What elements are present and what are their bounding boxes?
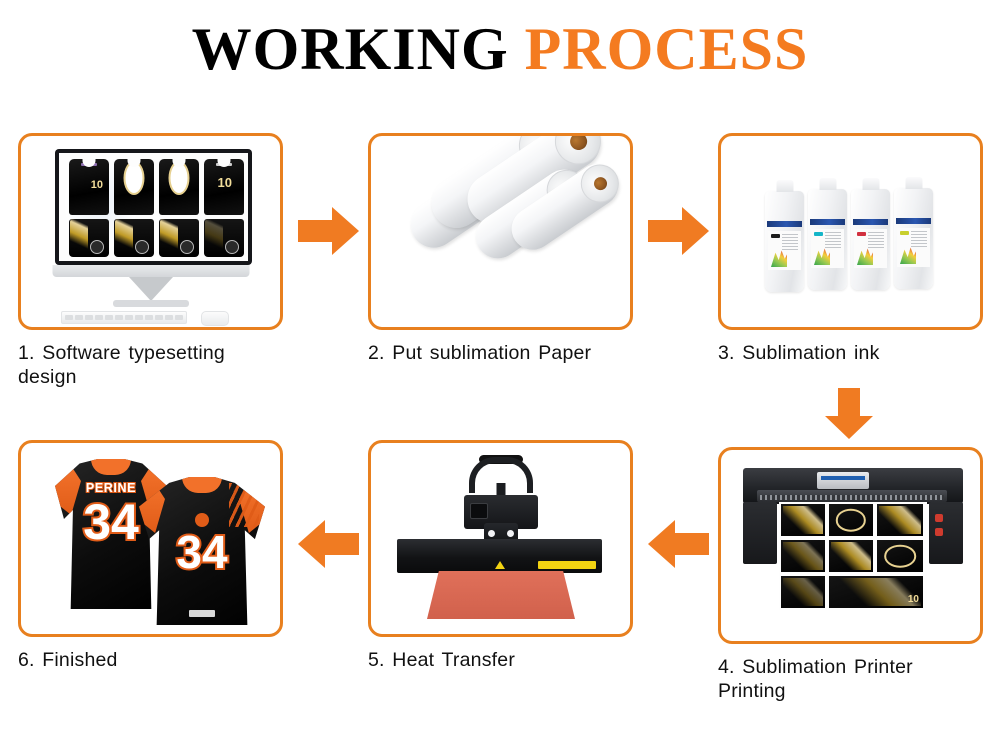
design-shorts-1 bbox=[69, 219, 109, 257]
monitor-base bbox=[113, 300, 189, 307]
page-title-part-process: PROCESS bbox=[525, 16, 809, 82]
printed-panel-6 bbox=[877, 540, 923, 572]
step-2-caption: 2. Put sublimation Paper bbox=[368, 341, 633, 365]
printed-panel-1 bbox=[781, 504, 825, 536]
design-jersey-3 bbox=[159, 159, 199, 215]
jersey-player-name: PERINE bbox=[86, 481, 136, 495]
paper-rolls-illustration bbox=[371, 136, 630, 327]
step-1-image-box: 10 10 bbox=[18, 133, 283, 330]
step-2-put-sublimation-paper[interactable]: 2. Put sublimation Paper bbox=[368, 133, 633, 365]
printer-illustration: 10 bbox=[721, 450, 980, 641]
step-1-caption: 1. Software typesetting design bbox=[18, 341, 283, 390]
arrow-step5-to-step6 bbox=[298, 518, 360, 570]
step-5-heat-transfer[interactable]: 5. Heat Transfer bbox=[368, 440, 633, 672]
step-3-sublimation-ink[interactable]: 3. Sublimation ink bbox=[718, 133, 983, 365]
mouse-icon bbox=[201, 311, 229, 326]
printer-control-panel bbox=[817, 472, 869, 489]
printer-leg-left bbox=[743, 502, 777, 564]
jersey-number-back: 34 bbox=[83, 497, 139, 547]
step-6-caption: 6. Finished bbox=[18, 648, 283, 672]
arrow-step1-to-step2 bbox=[298, 205, 360, 257]
step-6-finished[interactable]: PERINE 34 34 6. Finished bbox=[18, 440, 283, 672]
ink-bottles-illustration bbox=[721, 136, 980, 327]
jersey-front-view: 34 bbox=[139, 477, 265, 625]
printed-panel-jersey: 10 bbox=[829, 576, 923, 608]
step-3-caption: 3. Sublimation ink bbox=[718, 341, 983, 365]
page-title-part-working: WORKING bbox=[192, 16, 509, 82]
design-jersey-1: 10 bbox=[69, 159, 109, 215]
jersey-number-front: 34 bbox=[176, 529, 227, 575]
printer-leg-right bbox=[929, 502, 963, 564]
heat-press-illustration bbox=[371, 443, 630, 634]
step-4-caption: 4. Sublimation Printer Printing bbox=[718, 655, 983, 704]
arrow-step4-to-step5 bbox=[648, 518, 710, 570]
ink-bottle-magenta bbox=[851, 189, 890, 290]
printed-media-sheet: 10 bbox=[779, 502, 927, 610]
arrow-step3-to-step4 bbox=[823, 388, 875, 440]
step-6-image-box: PERINE 34 34 bbox=[18, 440, 283, 637]
step-4-sublimation-printer-printing[interactable]: 10 4. Sublimation Printer Printing bbox=[718, 447, 983, 704]
printed-panel-3 bbox=[877, 504, 923, 536]
design-jersey-2 bbox=[114, 159, 154, 215]
design-shorts-3 bbox=[159, 219, 199, 257]
arrow-step2-to-step3 bbox=[648, 205, 710, 257]
step-2-image-box bbox=[368, 133, 633, 330]
design-shorts-4 bbox=[204, 219, 244, 257]
ink-bottle-cyan bbox=[808, 189, 847, 290]
step-3-image-box bbox=[718, 133, 983, 330]
monitor-stand bbox=[129, 277, 173, 301]
printed-panel-7 bbox=[781, 576, 825, 608]
monitor-bezel bbox=[52, 265, 249, 277]
step-5-image-box bbox=[368, 440, 633, 637]
keyboard-icon bbox=[61, 311, 187, 324]
step-5-caption: 5. Heat Transfer bbox=[368, 648, 633, 672]
heat-press-platen bbox=[397, 539, 602, 573]
printed-panel-5 bbox=[829, 540, 873, 572]
heat-press-base-pad bbox=[427, 571, 575, 619]
page-title: WORKING PROCESS bbox=[0, 18, 1000, 81]
design-jersey-4: 10 bbox=[204, 159, 244, 215]
monitor-illustration: 10 10 bbox=[21, 136, 280, 327]
monitor-screen-icon: 10 10 bbox=[55, 149, 252, 265]
step-1-software-typesetting[interactable]: 10 10 bbox=[18, 133, 283, 390]
step-4-image-box: 10 bbox=[718, 447, 983, 644]
printer-carriage-rail bbox=[757, 490, 947, 502]
design-shorts-2 bbox=[114, 219, 154, 257]
ink-bottle-yellow bbox=[894, 188, 933, 289]
finished-jerseys-illustration: PERINE 34 34 bbox=[21, 443, 280, 634]
printed-panel-2 bbox=[829, 504, 873, 536]
ink-bottle-black bbox=[765, 191, 804, 292]
printed-panel-4 bbox=[781, 540, 825, 572]
